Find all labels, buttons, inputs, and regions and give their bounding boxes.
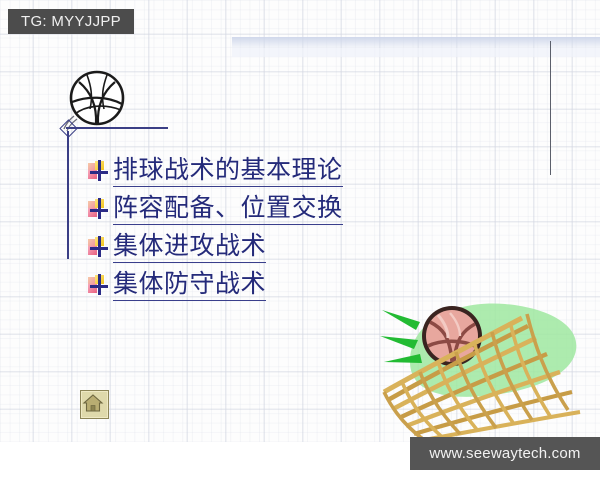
colored-cross-bullet-icon: [88, 237, 108, 257]
title-horizontal-rule: [66, 127, 168, 129]
list-item[interactable]: 排球战术的基本理论: [88, 152, 508, 190]
colored-cross-bullet-icon: [88, 199, 108, 219]
green-speed-lines-icon: [380, 310, 422, 363]
left-vertical-rule: [67, 131, 69, 259]
watermark-text: www.seewaytech.com: [429, 445, 580, 462]
top-lavender-band-secondary: [232, 48, 600, 57]
status-badge-label: TG: MYYJJPP: [21, 13, 121, 30]
slide-canvas: 排球战术的基本理论 阵容配备、位置交换 集体进攻战术 集体防守战术: [0, 0, 600, 442]
list-item-label[interactable]: 集体进攻战术: [113, 231, 266, 263]
top-lavender-band: [232, 37, 600, 48]
watermark: www.seewaytech.com: [410, 437, 600, 470]
right-vertical-rule: [550, 41, 551, 175]
colored-cross-bullet-icon: [88, 161, 108, 181]
home-button[interactable]: [80, 390, 109, 419]
list-item[interactable]: 阵容配备、位置交换: [88, 190, 508, 228]
list-item-label[interactable]: 集体防守战术: [113, 269, 266, 301]
list-item-label[interactable]: 阵容配备、位置交换: [113, 193, 343, 225]
bullet-list: 排球战术的基本理论 阵容配备、位置交换 集体进攻战术 集体防守战术: [88, 152, 508, 304]
list-item[interactable]: 集体进攻战术: [88, 228, 508, 266]
home-icon: [81, 391, 105, 415]
list-item-label[interactable]: 排球战术的基本理论: [113, 155, 343, 187]
status-badge: TG: MYYJJPP: [8, 9, 134, 34]
colored-cross-bullet-icon: [88, 275, 108, 295]
volleyball-spike-net-clipart: [380, 292, 600, 442]
